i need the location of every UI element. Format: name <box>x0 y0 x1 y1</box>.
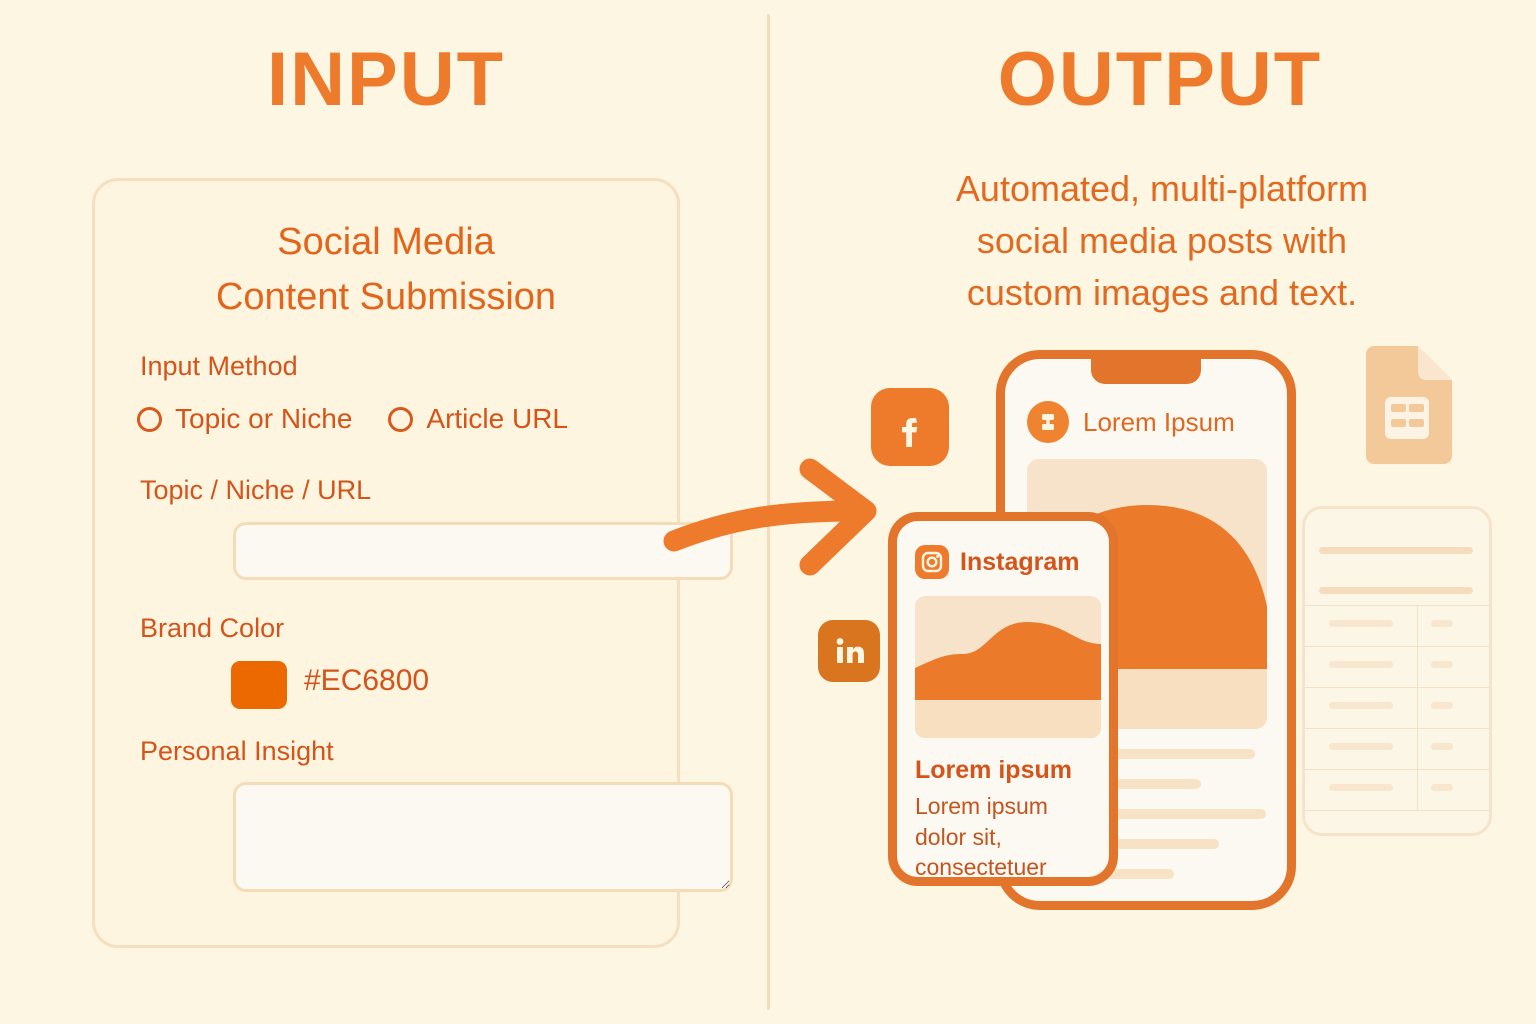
brand-color-hex-value: #EC6800 <box>304 664 429 698</box>
brand-color-label: Brand Color <box>140 613 284 644</box>
instagram-platform-name: Instagram <box>960 548 1079 577</box>
instagram-post-image <box>915 596 1101 738</box>
output-description-line2: social media posts with <box>852 215 1472 267</box>
spreadsheet-table-panel <box>1302 506 1492 836</box>
radio-label-topic-or-niche: Topic or Niche <box>175 403 352 435</box>
input-method-label: Input Method <box>140 351 298 382</box>
instagram-post-title: Lorem ipsum <box>915 756 1072 785</box>
topic-field-label: Topic / Niche / URL <box>140 475 371 506</box>
form-title-line1: Social Media <box>95 215 677 270</box>
radio-circle-icon[interactable] <box>388 407 413 432</box>
input-form-card: Social Media Content Submission Input Me… <box>92 178 680 948</box>
form-title-line2: Content Submission <box>95 270 677 325</box>
contact-card-icon <box>1027 401 1069 443</box>
instagram-post-header: Instagram <box>915 545 1079 579</box>
phone-post-header: Lorem Ipsum <box>1027 401 1235 443</box>
personal-insight-label: Personal Insight <box>140 736 334 767</box>
output-description-line3: custom images and text. <box>852 267 1472 319</box>
input-method-radio-group[interactable]: Topic or Niche Article URL <box>137 403 568 435</box>
personal-insight-textarea[interactable] <box>233 782 733 892</box>
output-description: Automated, multi-platform social media p… <box>852 163 1472 320</box>
flow-arrow-right-icon <box>660 455 900 595</box>
radio-option-topic-or-niche[interactable]: Topic or Niche <box>137 403 352 435</box>
topic-input[interactable] <box>233 522 733 580</box>
infographic-stage: INPUT Social Media Content Submission In… <box>0 0 1536 1024</box>
radio-option-article-url[interactable]: Article URL <box>388 403 568 435</box>
instagram-post-body: Lorem ipsum dolor sit, consectetuer <box>915 791 1095 883</box>
page-title-output: OUTPUT <box>860 42 1460 118</box>
phone-post-username: Lorem Ipsum <box>1083 407 1235 438</box>
spreadsheet-file-icon <box>1358 344 1454 468</box>
phone-notch <box>1091 358 1201 384</box>
instagram-post-card: Instagram Lorem ipsum Lorem ipsum dolor … <box>888 512 1118 886</box>
linkedin-icon[interactable] <box>818 620 880 682</box>
facebook-icon[interactable] <box>871 388 949 466</box>
page-title-input: INPUT <box>92 42 680 118</box>
output-description-line1: Automated, multi-platform <box>852 163 1472 215</box>
brand-color-swatch[interactable] <box>231 661 287 709</box>
radio-circle-icon[interactable] <box>137 407 162 432</box>
radio-label-article-url: Article URL <box>426 403 568 435</box>
form-title: Social Media Content Submission <box>95 215 677 325</box>
instagram-icon <box>915 545 949 579</box>
